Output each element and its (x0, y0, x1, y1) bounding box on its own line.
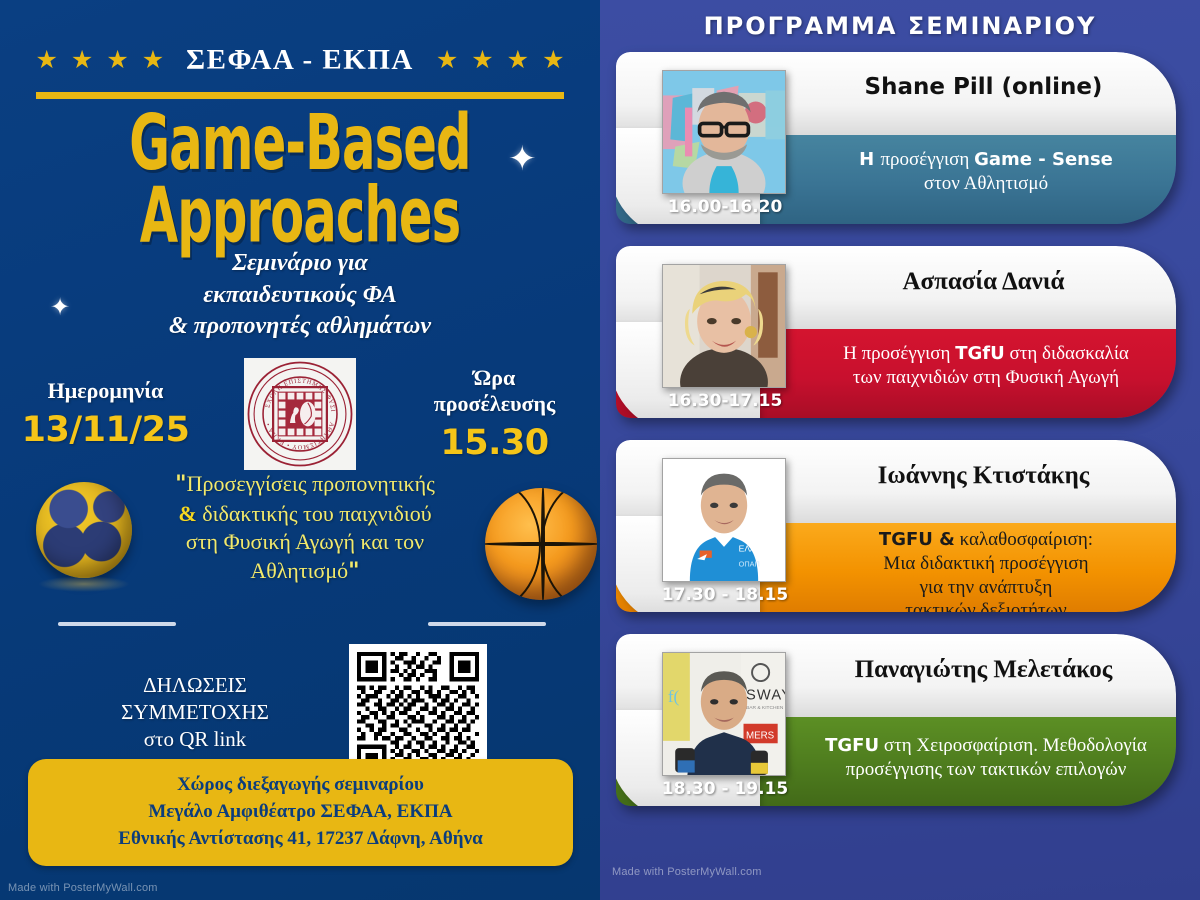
star-icon: ★ (471, 48, 493, 73)
event-meta-row: Ημερομηνία 13/11/25 ΣΧΟΛΗ ΕΠΙΣΤΗΜΗΣ ΦΥΣΙ… (0, 358, 600, 470)
quote-line-2: & διδακτικής του παιχνιδιού (140, 500, 470, 529)
quote-line-4: Αθλητισμό" (140, 557, 470, 587)
svg-text:ΕΛΛΑΣ: ΕΛΛΑΣ (739, 544, 767, 554)
speaker-photo (662, 70, 786, 194)
star-icon: ★ (71, 48, 93, 73)
seminar-poster: ★ ★ ★ ★ ΣΕΦΑΑ - ΕΚΠΑ ★ ★ ★ ★ Game-Based … (0, 0, 1200, 900)
star-icon: ★ (35, 48, 57, 73)
session-topic: Η προσέγγιση Game - Sense στον Αθλητισμό (806, 148, 1166, 196)
time-label-line-1: Ώρα (407, 365, 582, 391)
registration-line-1: ΔΗΛΩΣΕΙΣ (90, 672, 300, 699)
programme-card[interactable]: 16.00-16.20 Shane Pill (online) Η προσέγ… (616, 52, 1176, 224)
stars-right: ★ ★ ★ ★ (436, 48, 565, 73)
date-label: Ημερομηνία (18, 378, 193, 404)
topic-line-2: προσέγγισης των τακτικών επιλογών (806, 758, 1166, 782)
programme-card-list: 16.00-16.20 Shane Pill (online) Η προσέγ… (616, 52, 1191, 828)
session-topic: TGFU στη Χειροσφαίριση. Μεθοδολογία προσ… (806, 734, 1166, 782)
star-icon: ★ (436, 48, 458, 73)
speaker-photo: SWAY BAR & KITCHEN MERS f( (662, 652, 786, 776)
venue-line-1: Χώρος διεξαγωγής σεμιναρίου (44, 772, 557, 799)
topic-line-1: TGFU & καλαθοσφαίριση: (806, 528, 1166, 552)
poster-headline: Game-Based Approaches (24, 108, 576, 252)
quote-line-1: "Προσεγγίσεις προπονητικής (140, 470, 470, 500)
topic-line-2: στον Αθλητισμό (806, 172, 1166, 196)
subtitle-line-3: & προπονητές αθλημάτων (0, 311, 600, 343)
speaker-photo-aspasia-dania (663, 265, 785, 387)
topic-line-4: τακτικών δεξιοτήτων (806, 599, 1166, 612)
stars-left: ★ ★ ★ ★ (35, 48, 164, 73)
star-icon: ★ (106, 48, 128, 73)
time-value: 15.30 (407, 423, 582, 463)
session-time: 18.30 - 19.15 (650, 779, 800, 799)
session-topic: Η προσέγγιση TGfU στη διδασκαλία των παι… (806, 342, 1166, 390)
venue-line-3: Εθνικής Αντίστασης 41, 17237 Δάφνη, Αθήν… (44, 826, 557, 853)
poster-subtitle: Σεμινάριο για εκπαιδευτικούς ΦΑ & προπον… (0, 248, 600, 343)
topic-line-3: για την ανάπτυξη (806, 576, 1166, 600)
headline-line-2: Approaches (24, 180, 576, 252)
speaker-photo-ioannis-ktistakis: ΕΛΛΑΣ ΟΠΑΠ (663, 459, 785, 581)
poster-quote: "Προσεγγίσεις προπονητικής & διδακτικής … (140, 470, 470, 586)
topic-line-1: Η προσέγγιση TGfU στη διδασκαλία (806, 342, 1166, 366)
session-time: 17.30 - 18.15 (650, 585, 800, 605)
basketball-icon (485, 488, 597, 600)
programme-card[interactable]: ΕΛΛΑΣ ΟΠΑΠ 17.30 - 18.15 Ιωάννης Κτιστάκ… (616, 440, 1176, 612)
session-time: 16.00-16.20 (650, 197, 800, 217)
programme-title: ΠΡΟΓΡΑΜΜΑ ΣΕΜΙΝΑΡΙΟΥ (600, 12, 1200, 40)
registration-label: ΔΗΛΩΣΕΙΣ ΣΥΜΜΕΤΟΧΗΣ στο QR link (90, 672, 300, 753)
registration-line-3: στο QR link (90, 726, 300, 753)
svg-text:ΟΠΑΠ: ΟΠΑΠ (739, 559, 760, 568)
programme-card[interactable]: 16.30-17.15 Ασπασία Δανιά Η προσέγγιση T… (616, 246, 1176, 418)
brand-header: ★ ★ ★ ★ ΣΕΦΑΑ - ΕΚΠΑ ★ ★ ★ ★ (0, 44, 600, 77)
divider-left (58, 622, 176, 626)
venue-line-2: Μεγάλο Αμφιθέατρο ΣΕΦΑΑ, ΕΚΠΑ (44, 799, 557, 826)
event-date: Ημερομηνία 13/11/25 (18, 378, 193, 450)
speaker-name: Ασπασία Δανιά (806, 268, 1161, 296)
quote-line-3: στη Φυσική Αγωγή και τον (140, 528, 470, 557)
speaker-photo-panagiotis-meletakos: SWAY BAR & KITCHEN MERS f( (663, 653, 785, 775)
speaker-photo: ΕΛΛΑΣ ΟΠΑΠ (662, 458, 786, 582)
svg-text:MERS: MERS (746, 730, 775, 741)
programme-card[interactable]: SWAY BAR & KITCHEN MERS f( (616, 634, 1176, 806)
event-time: Ώρα προσέλευσης 15.30 (407, 365, 582, 463)
registration-line-2: ΣΥΜΜΕΤΟΧΗΣ (90, 699, 300, 726)
sparkle-icon: ✦ (508, 142, 537, 176)
topic-line-2: Μια διδακτική προσέγγιση (806, 552, 1166, 576)
speaker-name: Ιωάννης Κτιστάκης (806, 462, 1161, 490)
divider-right (428, 622, 546, 626)
topic-line-2: των παιχνιδιών στη Φυσική Αγωγή (806, 366, 1166, 390)
qr-code-icon[interactable] (357, 652, 479, 774)
quote-row: "Προσεγγίσεις προπονητικής & διδακτικής … (0, 470, 600, 615)
date-value: 13/11/25 (18, 410, 193, 450)
handball-icon (36, 482, 132, 578)
speaker-name: Παναγιώτης Μελετάκος (806, 656, 1161, 684)
time-label-line-2: προσέλευσης (407, 391, 582, 417)
star-icon: ★ (507, 48, 529, 73)
watermark-left: Made with PosterMyWall.com (8, 882, 158, 894)
speaker-photo-shane-pill (663, 71, 785, 193)
svg-text:BAR & KITCHEN: BAR & KITCHEN (746, 705, 784, 711)
topic-line-1: TGFU στη Χειροσφαίριση. Μεθοδολογία (806, 734, 1166, 758)
svg-text:f(: f( (668, 687, 680, 706)
star-icon: ★ (142, 48, 164, 73)
seal-icon: ΣΧΟΛΗ ΕΠΙΣΤΗΜΗΣ ΦΥΣΙΚΗΣ ΑΓΩΓΗΣ ΑΘΛΗΤΙΣΜΟ… (244, 358, 356, 470)
topic-line-1: Η προσέγγιση Game - Sense (806, 148, 1166, 172)
watermark-right: Made with PosterMyWall.com (612, 866, 762, 878)
session-time: 16.30-17.15 (650, 391, 800, 411)
sparkle-icon: ✦ (50, 296, 70, 320)
svg-text:SWAY: SWAY (746, 687, 785, 703)
speaker-photo (662, 264, 786, 388)
venue-banner: Χώρος διεξαγωγής σεμιναρίου Μεγάλο Αμφιθ… (28, 759, 573, 866)
brand-title: ΣΕΦΑΑ - ΕΚΠΑ (178, 44, 422, 77)
session-topic: TGFU & καλαθοσφαίριση: Μια διδακτική προ… (806, 528, 1166, 612)
speaker-name: Shane Pill (online) (806, 74, 1161, 100)
sefaa-ekpa-logo: ΣΧΟΛΗ ΕΠΙΣΤΗΜΗΣ ΦΥΣΙΚΗΣ ΑΓΩΓΗΣ ΑΘΛΗΤΙΣΜΟ… (244, 358, 356, 470)
subtitle-line-2: εκπαιδευτικούς ΦΑ (0, 280, 600, 312)
star-icon: ★ (542, 48, 564, 73)
left-panel: ★ ★ ★ ★ ΣΕΦΑΑ - ΕΚΠΑ ★ ★ ★ ★ Game-Based … (0, 0, 600, 900)
right-panel: ΠΡΟΓΡΑΜΜΑ ΣΕΜΙΝΑΡΙΟΥ (600, 0, 1200, 900)
subtitle-line-1: Σεμινάριο για (0, 248, 600, 280)
headline-line-1: Game-Based (24, 108, 576, 180)
